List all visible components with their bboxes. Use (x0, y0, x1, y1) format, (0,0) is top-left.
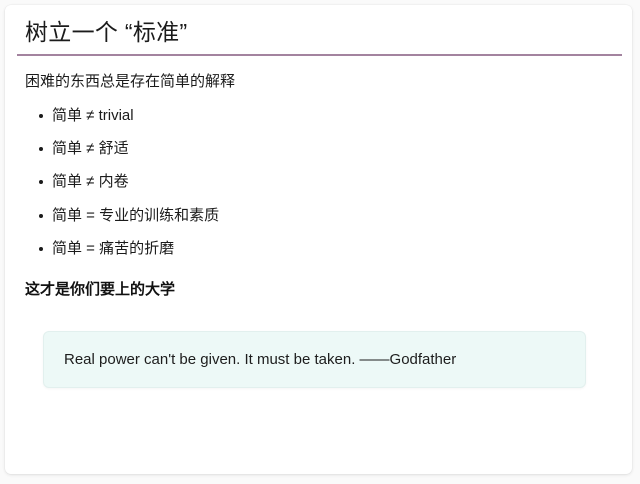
list-item: 简单 = 痛苦的折磨 (25, 239, 614, 259)
list-item: 简单 = 专业的训练和素质 (25, 206, 614, 226)
list-item-label: 简单 ≠ 舒适 (52, 140, 129, 157)
bullet-list: 简单 ≠ trivial 简单 ≠ 舒适 简单 ≠ 内卷 简单 = 专业的训练和… (25, 106, 614, 259)
page-title: 树立一个 “标准” (17, 19, 622, 45)
emphasis-paragraph: 这才是你们要上的大学 (25, 279, 614, 302)
list-item-label: 简单 ≠ 内卷 (52, 173, 129, 190)
list-item-label: 简单 ≠ trivial (52, 107, 134, 124)
list-item-label: 简单 = 痛苦的折磨 (52, 240, 174, 257)
slide-card: 树立一个 “标准” 困难的东西总是存在简单的解释 简单 ≠ trivial 简单… (5, 5, 632, 474)
quote-text: Real power can't be given. It must be ta… (64, 351, 456, 368)
list-item: 简单 ≠ 舒适 (25, 139, 614, 159)
list-item-label: 简单 = 专业的训练和素质 (52, 207, 219, 224)
title-section: 树立一个 “标准” (17, 5, 622, 56)
lead-paragraph: 困难的东西总是存在简单的解释 (25, 71, 614, 94)
list-item: 简单 ≠ 内卷 (25, 172, 614, 192)
list-item: 简单 ≠ trivial (25, 106, 614, 126)
slide-body: 困难的东西总是存在简单的解释 简单 ≠ trivial 简单 ≠ 舒适 简单 ≠… (5, 71, 632, 387)
quote-callout: Real power can't be given. It must be ta… (43, 331, 586, 388)
